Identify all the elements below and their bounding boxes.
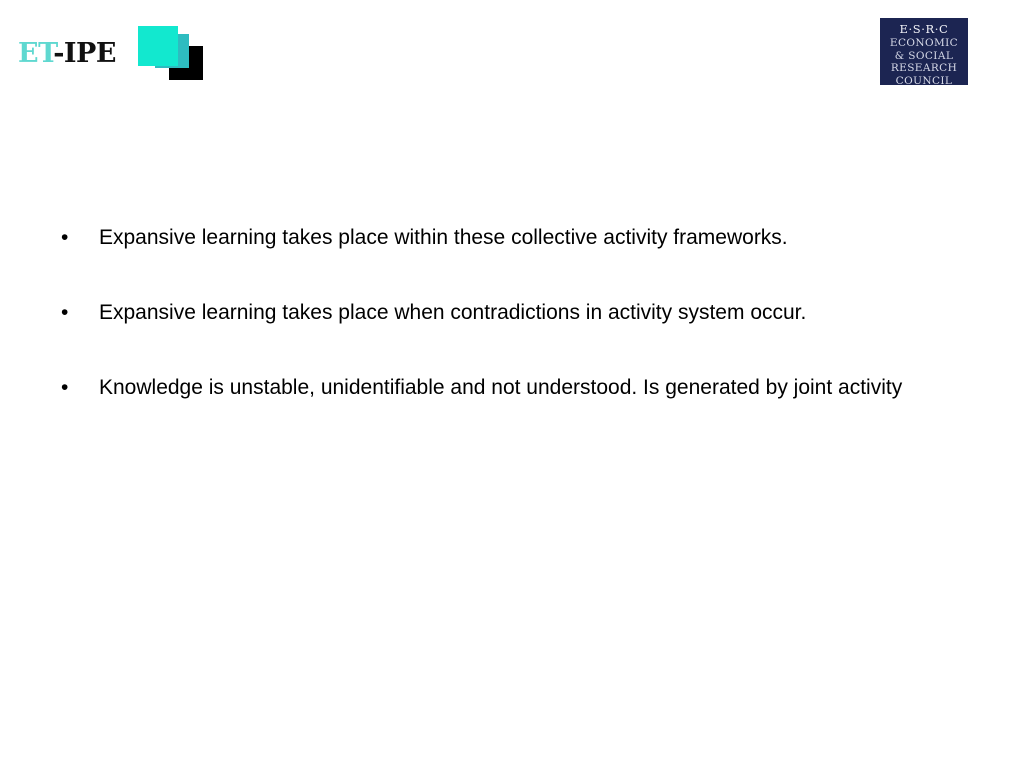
et-ipe-logo: ET-IPE — [18, 22, 208, 84]
et-ipe-wordmark: ET-IPE — [18, 40, 116, 67]
et-ipe-word-dash: - — [53, 38, 64, 69]
list-item: • Expansive learning takes place when co… — [58, 297, 978, 328]
bullet-text-3: Knowledge is unstable, unidentifiable an… — [99, 372, 959, 403]
esrc-line-1: ECONOMIC — [880, 37, 968, 50]
bullet-text-1: Expansive learning takes place within th… — [99, 222, 959, 253]
square-front-icon — [138, 26, 178, 66]
et-ipe-word-et: ET — [18, 38, 53, 69]
list-item: • Knowledge is unstable, unidentifiable … — [58, 372, 978, 403]
esrc-line-2: & SOCIAL — [880, 50, 968, 63]
esrc-initials: E·S·R·C — [880, 22, 968, 37]
esrc-logo: E·S·R·C ECONOMIC & SOCIAL RESEARCH COUNC… — [880, 18, 968, 85]
bullet-marker-icon: • — [58, 372, 99, 403]
et-ipe-word-ipe: IPE — [64, 38, 116, 69]
esrc-line-4: COUNCIL — [880, 75, 968, 86]
bullet-marker-icon: • — [58, 222, 99, 253]
esrc-line-3: RESEARCH — [880, 62, 968, 75]
slide-canvas: ET-IPE E·S·R·C ECONOMIC & SOCIAL RESEARC… — [0, 0, 1024, 768]
et-ipe-squares-mark — [130, 22, 208, 82]
bullet-marker-icon: • — [58, 297, 99, 328]
list-item: • Expansive learning takes place within … — [58, 222, 978, 253]
bullet-text-2: Expansive learning takes place when cont… — [99, 297, 959, 328]
bullet-list: • Expansive learning takes place within … — [58, 222, 978, 403]
